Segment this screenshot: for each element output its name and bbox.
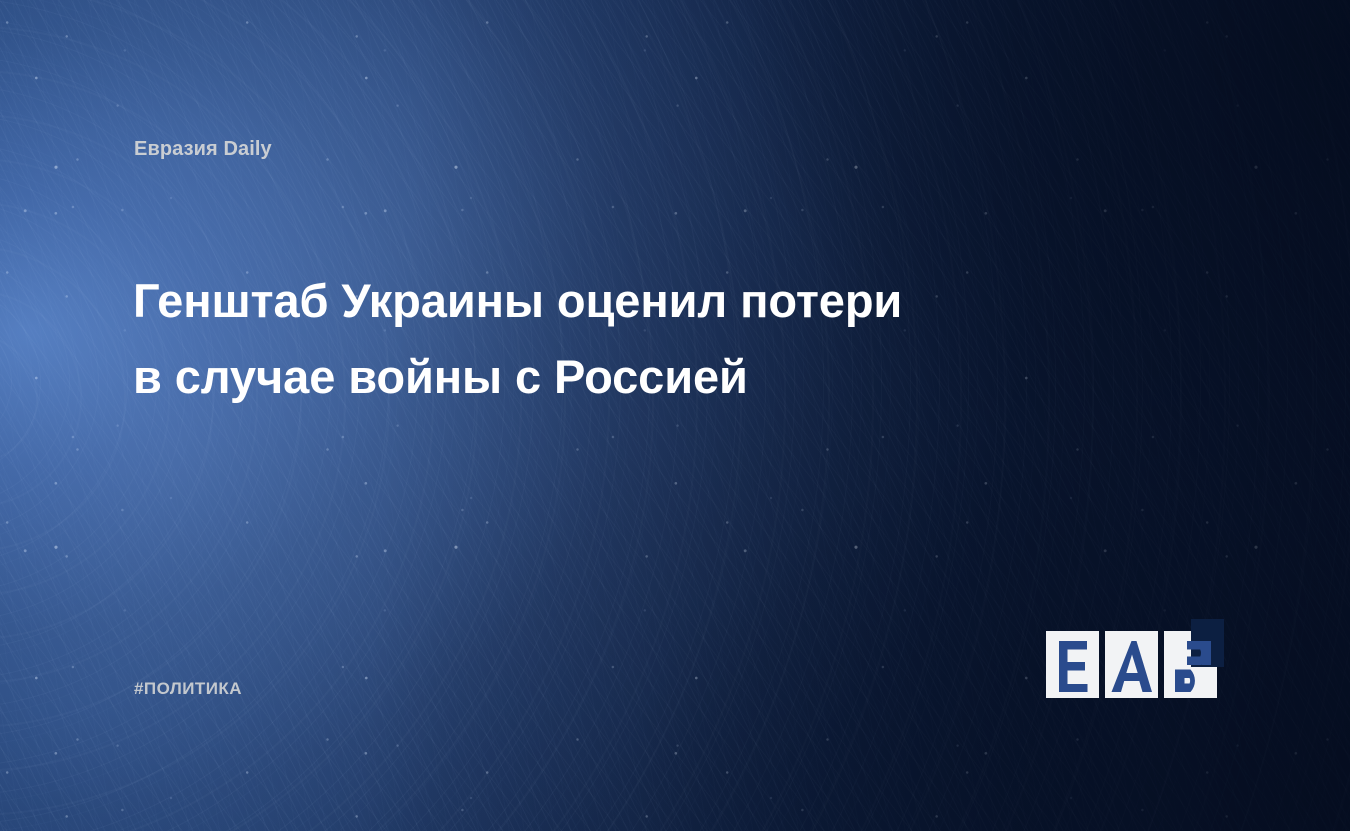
page-title: Генштаб Украины оценил потери в случае в…: [133, 263, 1063, 415]
eadaily-logo[interactable]: [1045, 616, 1225, 712]
logo-tile-e: [1046, 631, 1099, 698]
brand-name: Евразия Daily: [134, 138, 272, 161]
headline-line-1: Генштаб Украины оценил потери: [133, 263, 1063, 339]
card-content: Евразия Daily Генштаб Украины оценил пот…: [0, 0, 1350, 831]
logo-tile-a: [1105, 631, 1158, 698]
headline-line-2: в случае войны с Россией: [133, 339, 1063, 415]
rubric-tag-politics[interactable]: #ПОЛИТИКА: [134, 679, 242, 699]
logo-tile-d: [1164, 619, 1224, 698]
news-share-card: Евразия Daily Генштаб Украины оценил пот…: [0, 0, 1350, 831]
